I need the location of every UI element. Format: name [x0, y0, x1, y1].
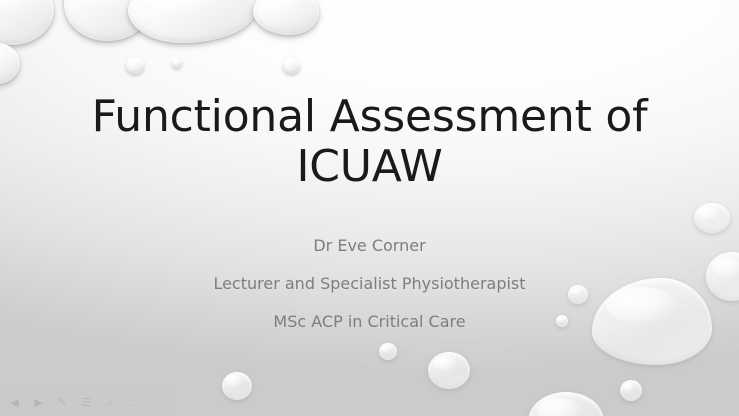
droplet-decoration — [528, 392, 604, 416]
slide-subtitle: Dr Eve Corner Lecturer and Specialist Ph… — [90, 236, 649, 350]
droplet-decoration — [620, 380, 642, 401]
droplet-decoration — [126, 57, 144, 74]
slide-title-line-2: ICUAW — [60, 142, 679, 192]
droplet-decoration — [0, 0, 54, 45]
droplet-decoration — [222, 372, 252, 400]
slide-title-line-1: Functional Assessment of — [60, 92, 679, 142]
droplet-decoration — [0, 43, 20, 84]
droplet-decoration — [172, 58, 182, 68]
droplet-decoration — [64, 0, 152, 41]
subtitle-presenter-qualification: MSc ACP in Critical Care — [90, 312, 649, 331]
droplet-decoration — [283, 57, 300, 74]
slide-menu-icon[interactable]: ☰ — [76, 394, 97, 411]
zoom-tool-icon[interactable]: ⌕ — [100, 394, 121, 411]
subtitle-presenter-role: Lecturer and Specialist Physiotherapist — [90, 274, 649, 293]
next-slide-icon[interactable]: ▶ — [28, 394, 49, 411]
droplet-decoration — [128, 0, 256, 43]
subtitle-presenter-name: Dr Eve Corner — [90, 236, 649, 255]
droplet-decoration — [253, 0, 319, 35]
slide-title: Functional Assessment of ICUAW — [60, 92, 679, 192]
pen-tool-icon[interactable]: ✎ — [52, 394, 73, 411]
droplet-decoration — [706, 252, 739, 301]
droplet-decoration — [694, 203, 730, 233]
more-options-icon[interactable]: … — [124, 394, 145, 411]
slideshow-control-bar[interactable]: ◀ ▶ ✎ ☰ ⌕ … — [0, 389, 176, 416]
presentation-slide: Functional Assessment of ICUAW Dr Eve Co… — [0, 0, 739, 416]
droplet-decoration — [428, 352, 470, 389]
previous-slide-icon[interactable]: ◀ — [4, 394, 25, 411]
